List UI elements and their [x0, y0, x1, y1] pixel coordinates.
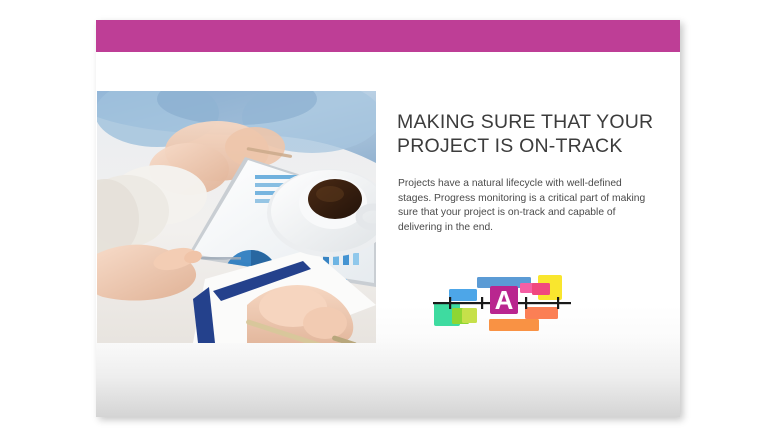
presentation-slide[interactable]: MAKING SURE THAT YOUR PROJECT IS ON-TRAC…	[96, 20, 680, 417]
top-accent-banner	[96, 20, 680, 52]
slide-canvas: MAKING SURE THAT YOUR PROJECT IS ON-TRAC…	[0, 0, 770, 440]
business-analytics-photo	[97, 91, 376, 343]
slide-body-text: Projects have a natural lifecycle with w…	[398, 177, 646, 235]
slide-title: MAKING SURE THAT YOUR PROJECT IS ON-TRAC…	[397, 110, 657, 158]
milestone-badge-letter: A	[495, 285, 514, 315]
project-timeline-gantt-illustration: A	[432, 262, 582, 338]
